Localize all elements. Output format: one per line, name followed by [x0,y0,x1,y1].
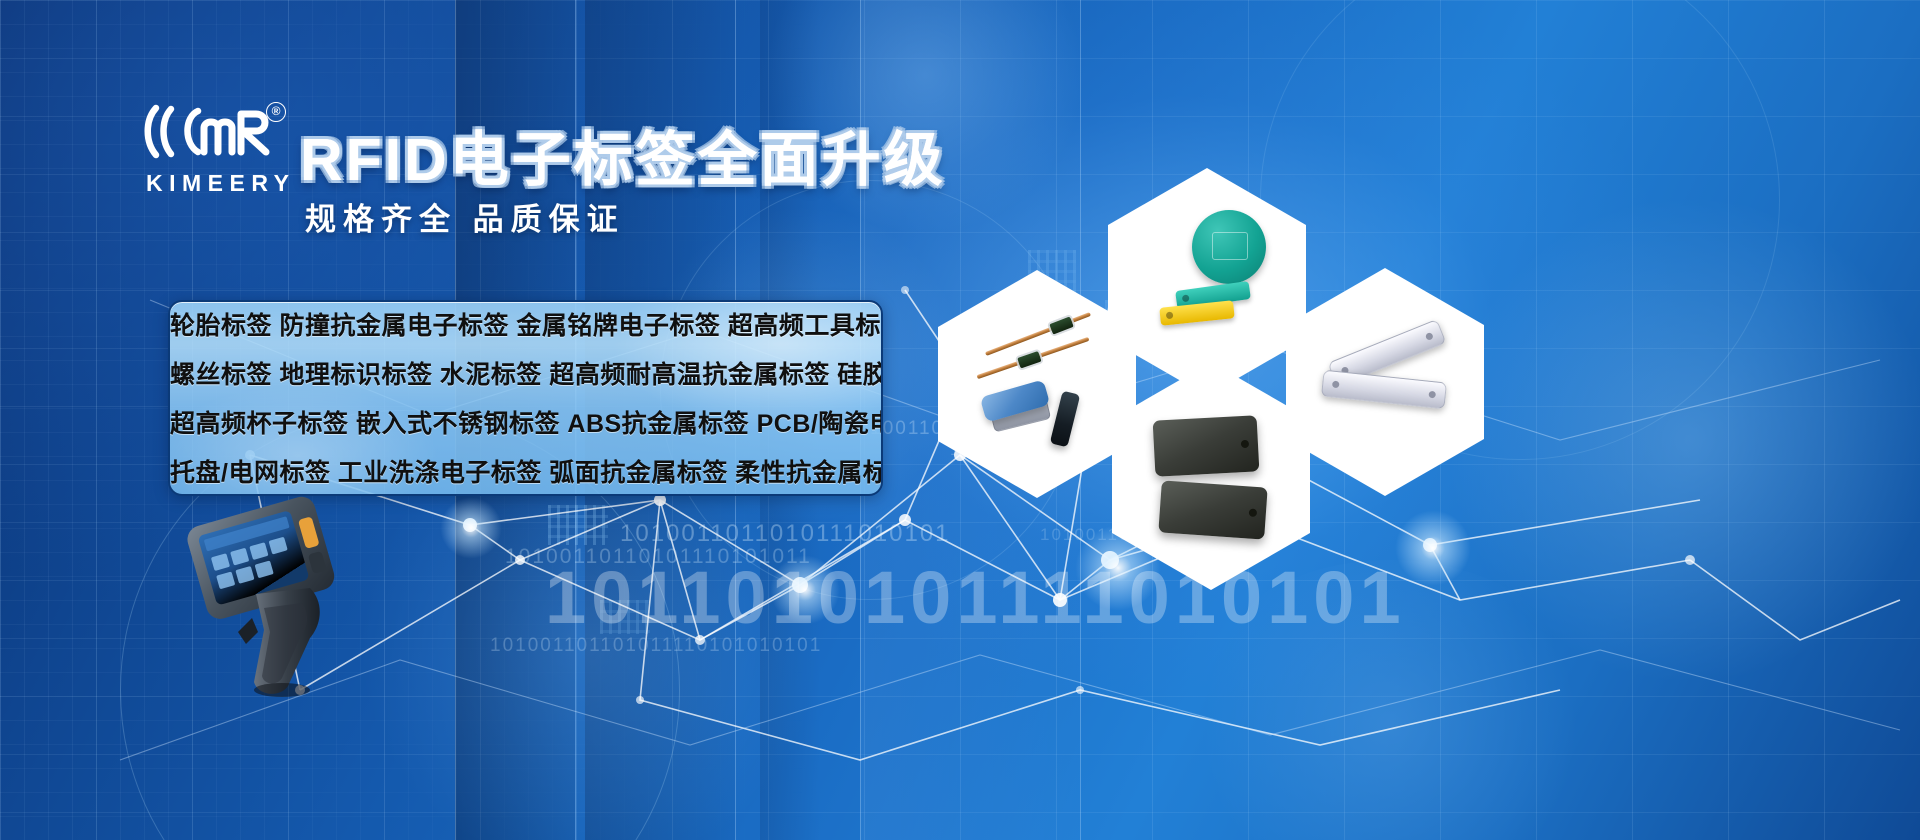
teal-round-tag [1192,210,1266,284]
product-list-row: 超高频杯子标签 嵌入式不锈钢标签 ABS抗金属标签 PCB/陶瓷电子标签 [170,400,881,449]
hexagon-dark-ceramic-tags [1112,362,1310,590]
yellow-strip-tag [1159,300,1234,326]
background-binary-5: 101001101101011110101010101 [490,635,822,657]
hexagon-flexible-white-tags [1286,268,1484,496]
background-glow-4 [1180,560,1600,840]
product-list-row: 托盘/电网标签 工业洗涤电子标签 弧面抗金属标签 柔性抗金属标签 [170,449,881,496]
background-binary-large: 1011010101111010101 [545,555,1406,640]
background-glow-2 [1430,180,1920,700]
circuit-texture-1 [548,505,608,545]
light-flare-2 [770,555,840,625]
circuit-texture-3 [600,600,650,634]
background-binary-1: 1010011011010111010101 [620,520,951,548]
product-list-box: 轮胎标签 防撞抗金属电子标签 金属铭牌电子标签 超高频工具标签 螺丝标签 地理标… [168,300,883,496]
dark-bar-tag [1050,391,1081,448]
product-list-row: 轮胎标签 防撞抗金属电子标签 金属铭牌电子标签 超高频工具标签 [170,302,881,351]
brand-logo: ® KIMEERY [140,100,300,200]
white-flex-tag-lower [1321,370,1447,410]
page-subtitle: 规格齐全 品质保证 [305,194,625,239]
rfid-promo-banner: 1011010101111010101 10100110110101110101… [0,0,1920,840]
hexagon-rod-antenna-and-blue-tags [938,270,1136,498]
registered-trademark-icon: ® [266,102,286,122]
page-title: RFID电子标签全面升级 [300,112,946,197]
background-binary-2: 10100110110101110101011 [505,545,812,569]
light-flare-4 [440,497,502,559]
dark-tag-upper [1153,415,1260,476]
copper-rod-antenna-1 [985,312,1091,356]
copper-rod-antenna-2 [977,337,1090,379]
hexagon-teal-disc-and-strip-tags [1108,168,1306,396]
product-list-row: 螺丝标签 地理标识标签 水泥标签 超高频耐高温抗金属标签 硅胶腕带 [170,351,881,400]
light-flare-3 [1395,510,1471,586]
handheld-rfid-reader [160,490,390,700]
brand-wordmark: KIMEERY [146,170,295,197]
dark-tag-lower [1158,480,1267,539]
